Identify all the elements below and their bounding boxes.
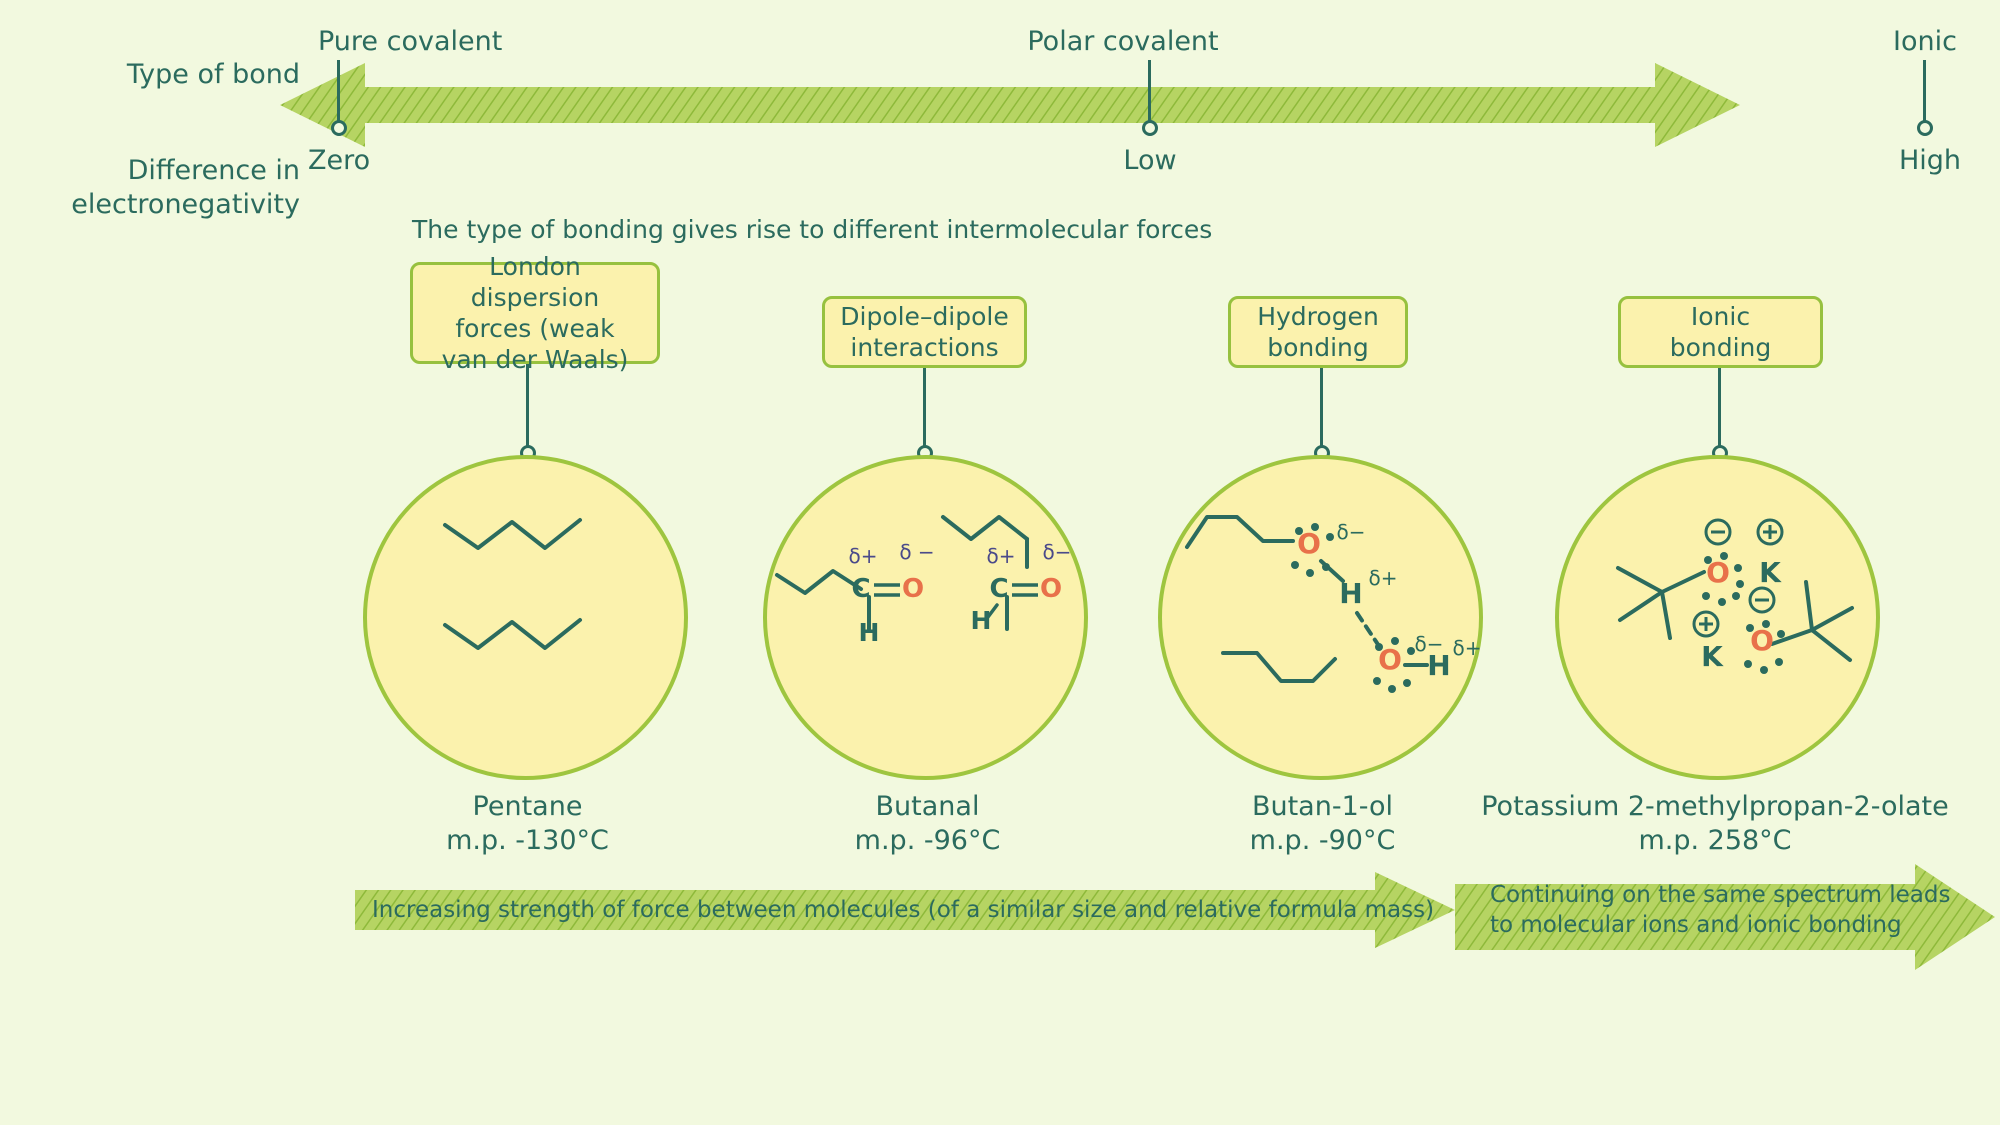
svg-text:O: O	[902, 574, 924, 604]
svg-text:H: H	[859, 618, 880, 647]
type-of-bond-label: Type of bond	[127, 59, 300, 90]
svg-text:H: H	[1339, 577, 1362, 610]
melting-point: m.p. -130°C	[390, 824, 665, 858]
electronegativity-value-low: Low	[1090, 145, 1210, 176]
spectrum-node-1[interactable]	[331, 120, 347, 136]
potassium-tert-butoxide-structure: O K O K	[1600, 510, 1855, 690]
callout-label: Ionicbonding	[1670, 301, 1772, 363]
svg-text:δ+: δ+	[987, 544, 1016, 568]
callout-stem-4	[1718, 368, 1721, 447]
melting-point: m.p. -90°C	[1185, 824, 1460, 858]
callout-dipole-dipole[interactable]: Dipole–dipoleinteractions	[822, 296, 1027, 368]
butanal-structure: C O H δ+ δ − C O H δ+ δ−	[775, 505, 1080, 685]
spectrum-node-3[interactable]	[1917, 120, 1933, 136]
svg-text:O: O	[1040, 574, 1062, 604]
callout-label: Hydrogenbonding	[1257, 301, 1379, 363]
bond-label-pure-covalent: Pure covalent	[318, 26, 502, 57]
spectrum-row-label-electronegativity: Difference inelectronegativity	[10, 120, 300, 256]
molecule-label-butanal: Butanal m.p. -96°C	[790, 790, 1065, 858]
molecule-name: Butan-1-ol	[1185, 790, 1460, 824]
electronegativity-spectrum-arrow	[280, 55, 1740, 155]
callout-label: Dipole–dipoleinteractions	[840, 301, 1009, 363]
subtitle: The type of bonding gives rise to differ…	[412, 215, 1212, 244]
molecule-name: Potassium 2-methylpropan-2-olate	[1475, 790, 1955, 824]
bond-label-ionic: Ionic	[1860, 26, 1990, 57]
molecule-label-potassium-olate: Potassium 2-methylpropan-2-olate m.p. 25…	[1475, 790, 1955, 858]
svg-text:δ −: δ −	[899, 540, 934, 564]
molecule-label-butanol: Butan-1-ol m.p. -90°C	[1185, 790, 1460, 858]
molecule-name: Pentane	[390, 790, 665, 824]
spectrum-stem-2	[1148, 60, 1151, 122]
molecule-name: Butanal	[790, 790, 1065, 824]
callout-london-dispersion[interactable]: London dispersionforces (weakvan der Waa…	[410, 262, 660, 364]
svg-text:C: C	[851, 574, 870, 604]
spectrum-node-2[interactable]	[1142, 120, 1158, 136]
svg-text:C: C	[989, 574, 1008, 604]
svg-text:δ−: δ−	[1337, 520, 1366, 544]
svg-text:δ−: δ−	[1043, 540, 1072, 564]
callout-ionic-bonding[interactable]: Ionicbonding	[1618, 296, 1823, 368]
melting-point: m.p. -96°C	[790, 824, 1065, 858]
svg-text:K: K	[1759, 556, 1782, 589]
electronegativity-label: Difference inelectronegativity	[71, 155, 300, 220]
svg-text:K: K	[1701, 640, 1724, 673]
molecule-label-pentane: Pentane m.p. -130°C	[390, 790, 665, 858]
electronegativity-value-zero: Zero	[308, 145, 370, 176]
callout-label: London dispersionforces (weakvan der Waa…	[423, 251, 647, 375]
callout-stem-2	[923, 368, 926, 447]
spectrum-row-label-bond: Type of bond	[10, 24, 300, 126]
pentane-structure	[440, 510, 620, 670]
callout-stem-1	[526, 364, 529, 447]
callout-stem-3	[1320, 368, 1323, 447]
callout-hydrogen-bonding[interactable]: Hydrogenbonding	[1228, 296, 1408, 368]
butanol-hydrogen-bond-structure: O δ− H δ+ O δ− H δ+	[1185, 505, 1450, 705]
spectrum-stem-3	[1923, 60, 1926, 122]
svg-text:H: H	[1427, 649, 1450, 682]
svg-text:H: H	[971, 606, 992, 635]
bond-label-polar-covalent: Polar covalent	[1003, 26, 1243, 57]
increasing-strength-label: Increasing strength of force between mol…	[372, 895, 1442, 925]
continuing-spectrum-label: Continuing on the same spectrum leadsto …	[1490, 880, 1960, 940]
svg-text:δ+: δ+	[1369, 566, 1398, 590]
melting-point: m.p. 258°C	[1475, 824, 1955, 858]
spectrum-stem-1	[337, 60, 340, 122]
svg-text:δ+: δ+	[1453, 636, 1482, 660]
electronegativity-value-high: High	[1865, 145, 1995, 176]
svg-text:δ+: δ+	[849, 544, 878, 568]
